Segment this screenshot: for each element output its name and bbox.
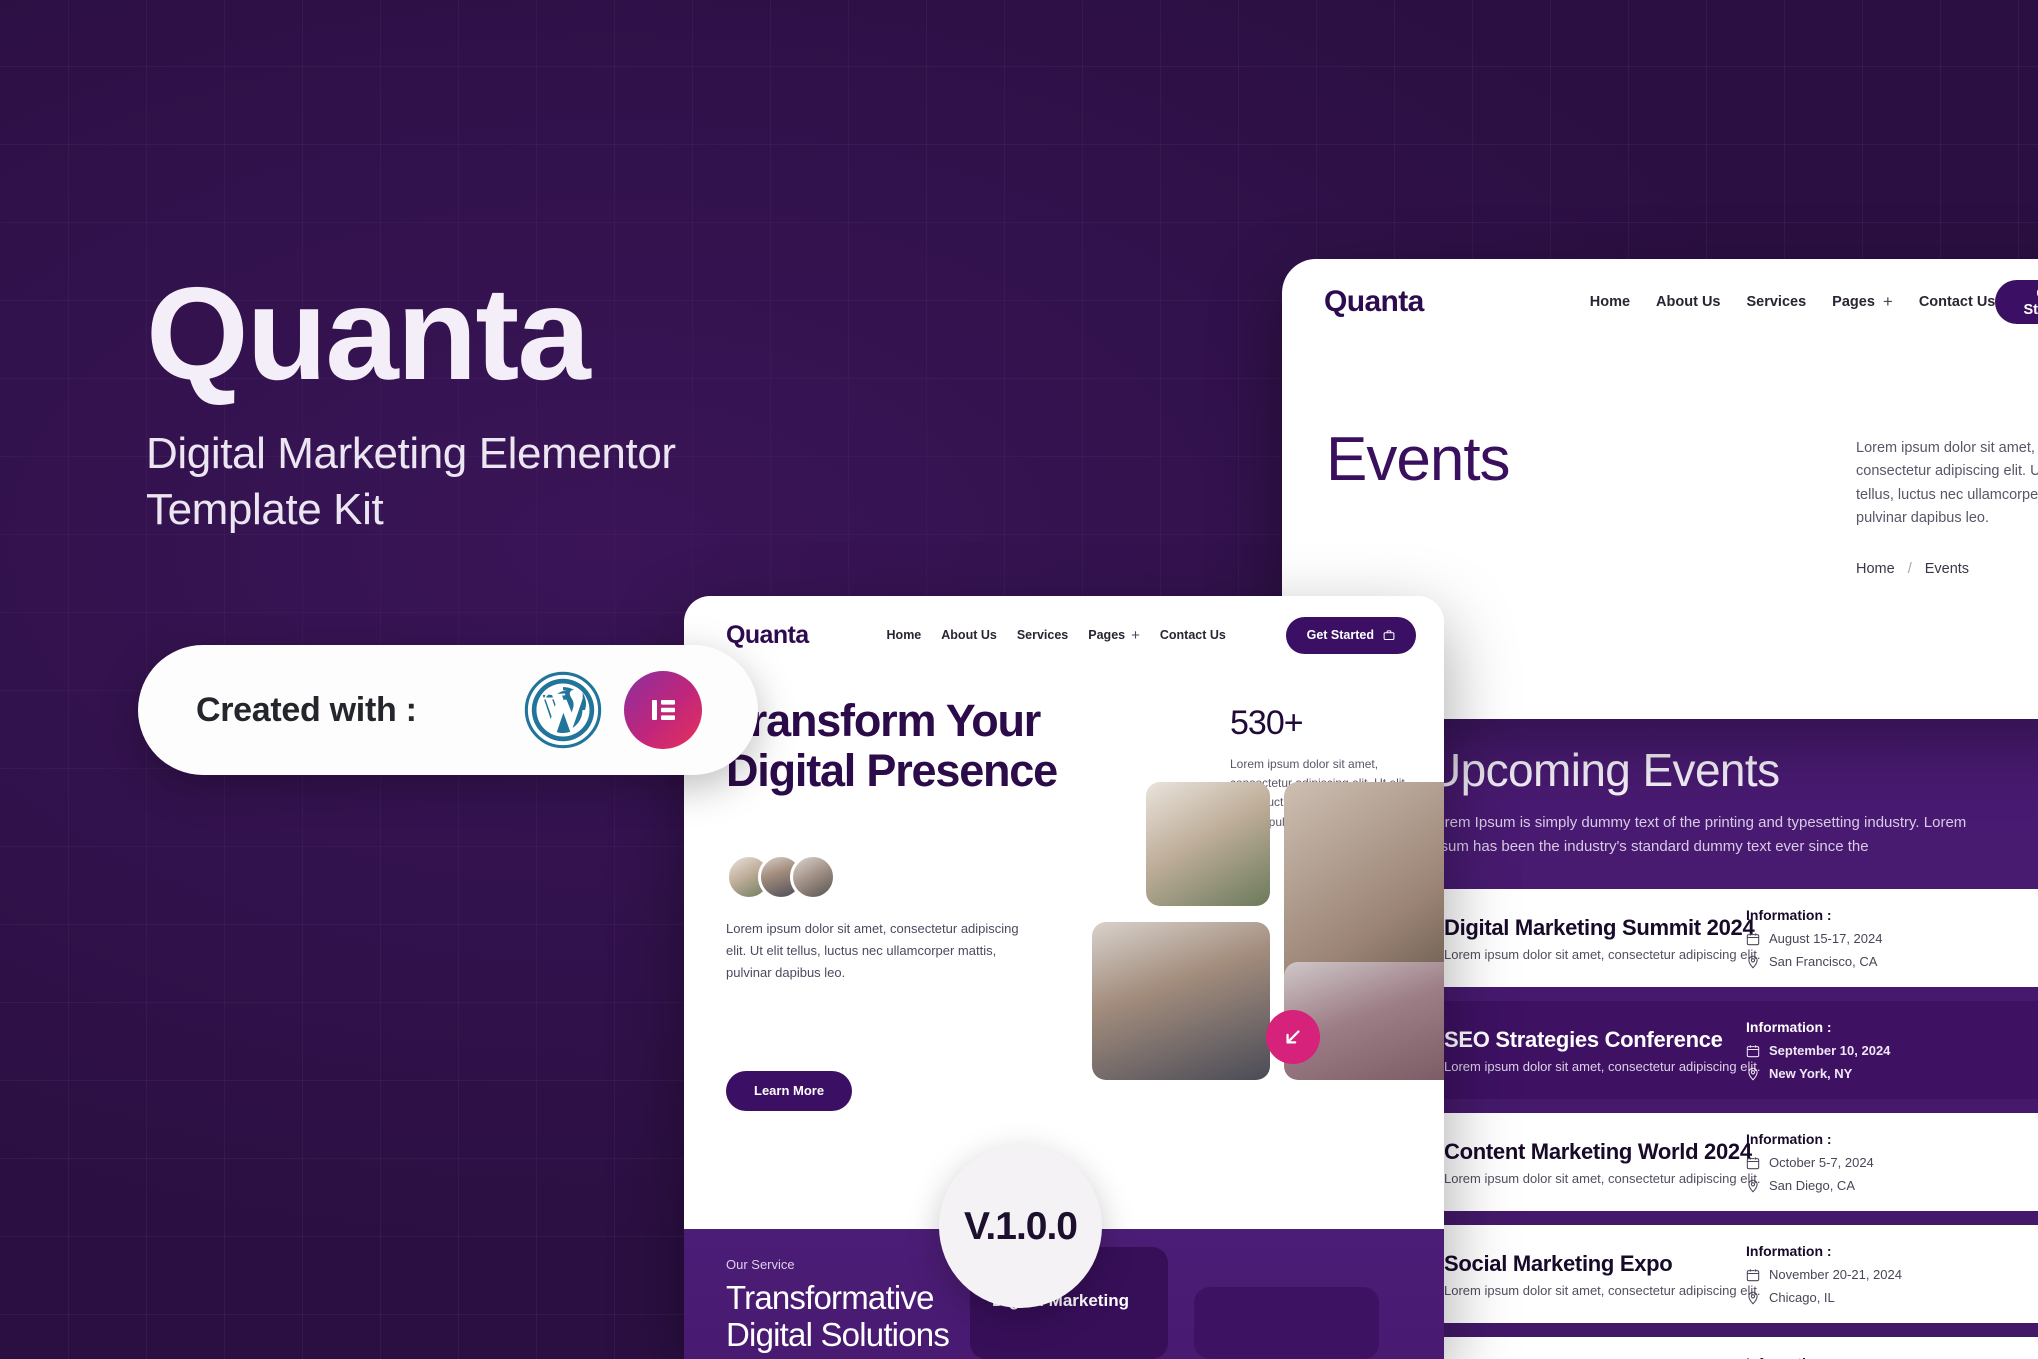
event-name: Content Marketing World 2024 (1444, 1139, 1712, 1165)
event-desc: Lorem ipsum dolor sit amet, consectetur … (1444, 947, 1712, 962)
event-location-row: Chicago, IL (1746, 1290, 1902, 1305)
stat-number: 530+ (1230, 704, 1410, 743)
menu-item-about-us[interactable]: About Us (941, 628, 997, 642)
plus-icon[interactable]: + (1131, 627, 1140, 644)
menu-item-services[interactable]: Services (1017, 628, 1068, 642)
breadcrumb-current: Events (1925, 561, 1969, 577)
collage-photo (1092, 922, 1270, 1080)
avatar (790, 854, 836, 900)
home-headline: Transform Your Digital Presence (726, 696, 1057, 832)
created-with-label: Created with : (196, 691, 417, 730)
event-info-label: Information : (1746, 1131, 1874, 1147)
version-badge: V.1.0.0 (939, 1145, 1102, 1308)
event-date: August 15-17, 2024 (1769, 931, 1882, 946)
event-card-left: Content Marketing World 2024 Lorem ipsum… (1444, 1139, 1712, 1186)
get-started-label: Get Started (2021, 286, 2038, 318)
location-pin-icon (1746, 1179, 1760, 1193)
event-card-info: Information : November 20-21, 2024 Chica… (1746, 1243, 1902, 1305)
events-intro-text: Lorem ipsum dolor sit amet, consectetur … (1856, 437, 2038, 531)
event-location: San Diego, CA (1769, 1178, 1855, 1193)
location-pin-icon (1746, 955, 1760, 969)
hero-block: Quanta Digital Marketing Elementor Templ… (146, 268, 966, 539)
hero-subtitle-line2: Template Kit (146, 482, 966, 538)
main-menu: Home About Us Services Pages + Contact U… (1590, 292, 1996, 312)
events-page-title: Events (1326, 429, 1510, 491)
event-date: November 20-21, 2024 (1769, 1267, 1902, 1282)
event-card-info: Information : December 2, 2024 Austin, T… (1746, 1355, 1876, 1359)
event-name: Social Marketing Expo (1444, 1251, 1712, 1277)
created-with-logos: W (524, 671, 702, 749)
location-pin-icon (1746, 1067, 1760, 1081)
event-card-info: Information : October 5-7, 2024 San Dieg… (1746, 1131, 1874, 1193)
menu-item-home[interactable]: Home (887, 628, 922, 642)
event-desc: Lorem ipsum dolor sit amet, consectetur … (1444, 1171, 1712, 1186)
menu-item-pages[interactable]: Pages (1088, 628, 1125, 642)
learn-more-button[interactable]: Learn More (726, 1071, 852, 1111)
event-date-row: September 10, 2024 (1746, 1043, 1890, 1058)
event-date: September 10, 2024 (1769, 1043, 1890, 1058)
event-name: Digital Marketing Summit 2024 (1444, 915, 1712, 941)
event-card[interactable]: Social Marketing Expo Lorem ipsum dolor … (1408, 1225, 2038, 1323)
location-pin-icon (1746, 1291, 1760, 1305)
created-with-badge: Created with : W (138, 645, 758, 775)
home-page-navbar: Quanta Home About Us Services Pages + Co… (684, 596, 1444, 674)
home-headline-line1: Transform Your (726, 696, 1057, 746)
events-hero-row: Events Lorem ipsum dolor sit amet, conse… (1282, 345, 2038, 577)
arrow-down-left-badge[interactable] (1266, 1010, 1320, 1064)
event-location-row: New York, NY (1746, 1066, 1890, 1081)
breadcrumb-home[interactable]: Home (1856, 561, 1895, 577)
svg-text:W: W (543, 688, 584, 733)
home-lead-text: Lorem ipsum dolor sit amet, consectetur … (726, 918, 1036, 985)
brand-logo[interactable]: Quanta (1324, 285, 1424, 319)
event-location-row: San Diego, CA (1746, 1178, 1874, 1193)
event-card-info: Information : August 15-17, 2024 San Fra… (1746, 907, 1882, 969)
calendar-icon (1746, 932, 1760, 946)
get-started-label: Get Started (1307, 628, 1374, 642)
event-card[interactable]: Content Marketing World 2024 Lorem ipsum… (1408, 1113, 2038, 1211)
collage-photo (1146, 782, 1270, 906)
event-desc: Lorem ipsum dolor sit amet, consectetur … (1444, 1283, 1712, 1298)
event-card-left: Digital Marketing Summit 2024 Lorem ipsu… (1444, 915, 1712, 962)
hero-subtitle-line1: Digital Marketing Elementor (146, 426, 966, 482)
arrow-down-left-icon (1280, 1024, 1306, 1050)
event-card[interactable]: SEO Strategies Conference Lorem ipsum do… (1408, 1001, 2038, 1099)
event-location: San Francisco, CA (1769, 954, 1877, 969)
event-date-row: August 15-17, 2024 (1746, 931, 1882, 946)
calendar-icon (1746, 1044, 1760, 1058)
menu-item-contact-us[interactable]: Contact Us (1919, 294, 1996, 310)
event-card[interactable]: Email Marketing Mastery Workshop Lorem i… (1408, 1337, 2038, 1359)
version-label: V.1.0.0 (964, 1205, 1077, 1249)
event-info-label: Information : (1746, 1243, 1902, 1259)
event-location: New York, NY (1769, 1066, 1852, 1081)
event-location-row: San Francisco, CA (1746, 954, 1882, 969)
wordpress-logo: W (524, 671, 602, 749)
event-card-left: Social Marketing Expo Lorem ipsum dolor … (1444, 1251, 1712, 1298)
event-date-row: October 5-7, 2024 (1746, 1155, 1874, 1170)
event-date: October 5-7, 2024 (1769, 1155, 1874, 1170)
menu-item-home[interactable]: Home (1590, 294, 1630, 310)
brand-logo[interactable]: Quanta (726, 621, 809, 650)
upcoming-events-heading: Upcoming Events (1428, 743, 2038, 797)
event-location: Chicago, IL (1769, 1290, 1835, 1305)
events-intro-block: Lorem ipsum dolor sit amet, consectetur … (1856, 429, 2038, 577)
main-menu: Home About Us Services Pages + Contact U… (887, 627, 1226, 644)
event-date-row: November 20-21, 2024 (1746, 1267, 1902, 1282)
event-info-label: Information : (1746, 907, 1882, 923)
event-desc: Lorem ipsum dolor sit amet, consectetur … (1444, 1059, 1712, 1074)
menu-item-about-us[interactable]: About Us (1656, 294, 1720, 310)
upcoming-events-subtext: Lorem Ipsum is simply dummy text of the … (1428, 811, 1988, 859)
get-started-button[interactable]: Get Started (1286, 617, 1416, 654)
service-card-secondary[interactable] (1194, 1287, 1379, 1359)
event-card[interactable]: Digital Marketing Summit 2024 Lorem ipsu… (1408, 889, 2038, 987)
menu-item-services[interactable]: Services (1746, 294, 1806, 310)
home-headline-line2: Digital Presence (726, 746, 1057, 796)
breadcrumb-separator: / (1908, 561, 1912, 577)
breadcrumb: Home / Events (1856, 561, 2038, 577)
event-card-left: SEO Strategies Conference Lorem ipsum do… (1444, 1027, 1712, 1074)
event-info-label: Information : (1746, 1355, 1876, 1359)
hero-subtitle: Digital Marketing Elementor Template Kit (146, 426, 966, 539)
calendar-icon (1746, 1156, 1760, 1170)
event-info-label: Information : (1746, 1019, 1890, 1035)
menu-item-pages[interactable]: Pages (1832, 294, 1875, 310)
plus-icon[interactable]: + (1883, 292, 1893, 312)
briefcase-icon (1383, 629, 1395, 641)
events-page-navbar: Quanta Home About Us Services Pages + Co… (1282, 259, 2038, 345)
elementor-logo (624, 671, 702, 749)
get-started-button[interactable]: Get Started (1995, 280, 2038, 324)
event-card-info: Information : September 10, 2024 New Yor… (1746, 1019, 1890, 1081)
page-title: Quanta (146, 268, 966, 400)
menu-item-contact-us[interactable]: Contact Us (1160, 628, 1226, 642)
calendar-icon (1746, 1268, 1760, 1282)
event-name: SEO Strategies Conference (1444, 1027, 1712, 1053)
